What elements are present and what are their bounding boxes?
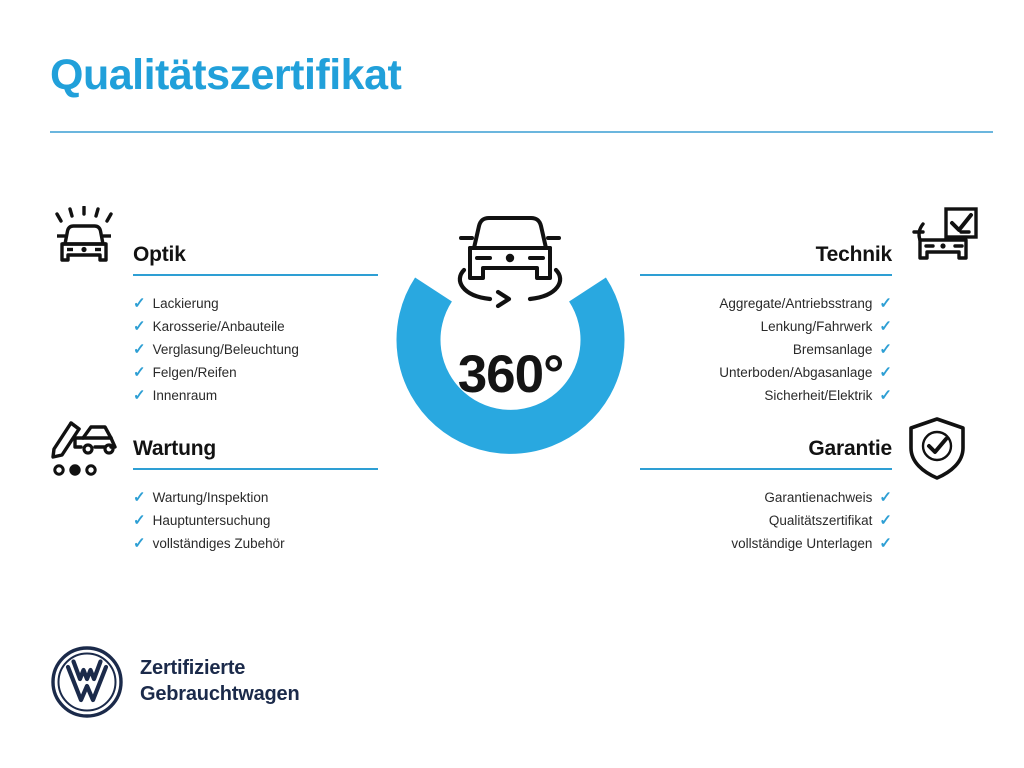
checklist-item: vollständige Unterlagen✓ — [640, 532, 892, 555]
footer-brand: Zertifizierte Gebrauchtwagen — [50, 645, 299, 719]
checklist-item: ✓Lackierung — [133, 292, 378, 315]
checklist-optik: ✓Lackierung✓Karosserie/Anbauteile✓Vergla… — [133, 292, 378, 407]
footer-line-2: Gebrauchtwagen — [140, 682, 299, 708]
check-icon: ✓ — [133, 342, 146, 357]
checklist-item-label: Lackierung — [153, 292, 219, 315]
checklist-item: ✓Karosserie/Anbauteile — [133, 315, 378, 338]
check-icon: ✓ — [879, 296, 892, 311]
footer-line-1: Zertifizierte — [140, 656, 299, 682]
check-icon: ✓ — [879, 319, 892, 334]
badge-value: 360° — [373, 344, 648, 405]
check-icon: ✓ — [133, 536, 146, 551]
check-icon: ✓ — [879, 365, 892, 380]
checklist-item: Unterboden/Abgasanlage✓ — [640, 361, 892, 384]
checklist-item-label: Lenkung/Fahrwerk — [761, 315, 873, 338]
checklist-item: Garantienachweis✓ — [640, 486, 892, 509]
checklist-garantie: Garantienachweis✓Qualitätszertifikat✓vol… — [640, 486, 892, 555]
checklist-wartung: ✓Wartung/Inspektion✓Hauptuntersuchung✓vo… — [133, 486, 378, 555]
section-optik: Optik✓Lackierung✓Karosserie/Anbauteile✓V… — [133, 234, 378, 407]
section-title-wartung: Wartung — [133, 437, 216, 461]
car-shine-icon — [45, 206, 123, 276]
checklist-item: ✓Hauptuntersuchung — [133, 509, 378, 532]
section-divider-technik — [640, 274, 892, 276]
checklist-item: ✓Innenraum — [133, 384, 378, 407]
footer-text: Zertifizierte Gebrauchtwagen — [140, 656, 299, 707]
checklist-item: Aggregate/Antriebsstrang✓ — [640, 292, 892, 315]
section-technik: TechnikAggregate/Antriebsstrang✓Lenkung/… — [640, 234, 892, 407]
check-icon: ✓ — [133, 296, 146, 311]
check-icon: ✓ — [879, 388, 892, 403]
check-icon: ✓ — [133, 365, 146, 380]
checklist-item-label: Sicherheit/Elektrik — [764, 384, 872, 407]
check-icon: ✓ — [133, 490, 146, 505]
checklist-item-label: Karosserie/Anbauteile — [153, 315, 285, 338]
section-title-optik: Optik — [133, 243, 186, 267]
page-title: Qualitätszertifikat — [50, 52, 401, 99]
check-icon: ✓ — [879, 342, 892, 357]
checklist-item-label: Innenraum — [153, 384, 218, 407]
checklist-item: Bremsanlage✓ — [640, 338, 892, 361]
check-icon: ✓ — [133, 513, 146, 528]
vw-logo-icon — [50, 645, 124, 719]
header-divider — [50, 131, 993, 133]
shield-check-icon — [898, 414, 976, 484]
check-icon: ✓ — [133, 319, 146, 334]
checklist-item-label: vollständiges Zubehör — [153, 532, 285, 555]
check-icon: ✓ — [879, 536, 892, 551]
checklist-item-label: Verglasung/Beleuchtung — [153, 338, 299, 361]
badge-360-check: Gebrauchtwagen-Check — [373, 192, 648, 487]
checklist-item-label: Hauptuntersuchung — [153, 509, 271, 532]
checklist-item-label: vollständige Unterlagen — [731, 532, 872, 555]
checklist-item: Sicherheit/Elektrik✓ — [640, 384, 892, 407]
check-icon: ✓ — [133, 388, 146, 403]
section-divider-optik — [133, 274, 378, 276]
checklist-technik: Aggregate/Antriebsstrang✓Lenkung/Fahrwer… — [640, 292, 892, 407]
checklist-item-label: Aggregate/Antriebsstrang — [719, 292, 872, 315]
section-garantie: GarantieGarantienachweis✓Qualitätszertif… — [640, 428, 892, 555]
checklist-item: Lenkung/Fahrwerk✓ — [640, 315, 892, 338]
checklist-item: ✓vollständiges Zubehör — [133, 532, 378, 555]
checklist-item-label: Garantienachweis — [764, 486, 872, 509]
section-wartung: Wartung✓Wartung/Inspektion✓Hauptuntersuc… — [133, 428, 378, 555]
checklist-item-label: Bremsanlage — [793, 338, 873, 361]
checklist-item: Qualitätszertifikat✓ — [640, 509, 892, 532]
certificate-page: Qualitätszertifikat — [0, 0, 1024, 768]
checklist-item: ✓Verglasung/Beleuchtung — [133, 338, 378, 361]
checklist-item-label: Wartung/Inspektion — [153, 486, 269, 509]
section-divider-wartung — [133, 468, 378, 470]
checklist-item-label: Unterboden/Abgasanlage — [719, 361, 872, 384]
section-title-garantie: Garantie — [808, 437, 892, 461]
car-checkbox-icon — [906, 206, 984, 276]
checklist-item-label: Qualitätszertifikat — [769, 509, 873, 532]
checklist-item-label: Felgen/Reifen — [153, 361, 237, 384]
car-service-pen-icon — [45, 414, 123, 484]
check-icon: ✓ — [879, 513, 892, 528]
checklist-item: ✓Felgen/Reifen — [133, 361, 378, 384]
section-divider-garantie — [640, 468, 892, 470]
section-title-technik: Technik — [816, 243, 892, 267]
checklist-item: ✓Wartung/Inspektion — [133, 486, 378, 509]
check-icon: ✓ — [879, 490, 892, 505]
